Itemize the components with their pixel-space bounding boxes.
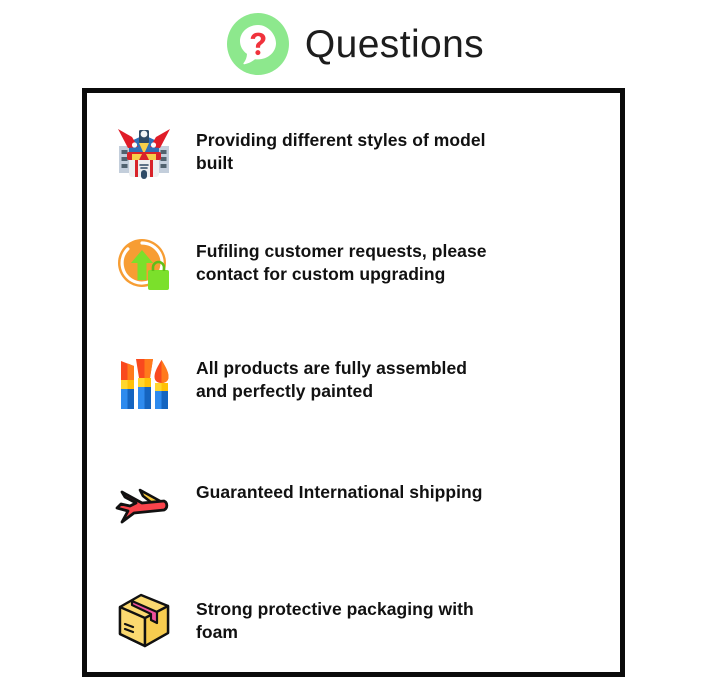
airplane-icon (112, 470, 176, 534)
list-item-label: Fufiling customer requests, please conta… (196, 233, 496, 286)
upgrade-shopping-bag-icon (112, 233, 176, 297)
list-item: Fufiling customer requests, please conta… (112, 233, 582, 297)
page-header: Questions (0, 0, 727, 88)
list-item: Strong protective packaging with foam (112, 587, 582, 651)
questions-list: Providing different styles of model buil… (87, 93, 620, 672)
list-item-label: All products are fully assembled and per… (196, 350, 496, 403)
list-item: All products are fully assembled and per… (112, 350, 582, 414)
list-item-label: Guaranteed International shipping (196, 470, 483, 504)
header-inner: Questions (227, 13, 484, 75)
list-item-label: Strong protective packaging with foam (196, 587, 496, 644)
list-item: Guaranteed International shipping (112, 470, 582, 534)
package-box-icon (112, 587, 176, 651)
question-speech-bubble-icon (227, 13, 289, 75)
questions-panel: Providing different styles of model buil… (82, 88, 625, 677)
list-item: Providing different styles of model buil… (112, 118, 582, 182)
questions-infographic: Questions (0, 0, 727, 700)
paint-brushes-icon (112, 350, 176, 414)
list-item-label: Providing different styles of model buil… (196, 118, 496, 175)
page-title: Questions (305, 25, 484, 64)
gundam-head-icon (112, 118, 176, 182)
